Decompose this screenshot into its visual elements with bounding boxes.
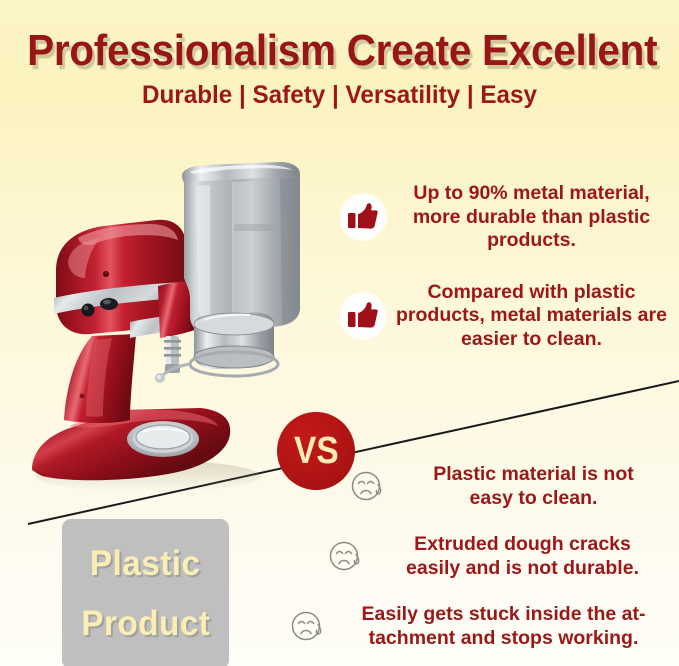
sad-face-icon xyxy=(324,536,366,576)
vs-badge: VS xyxy=(277,412,355,490)
product-comparison-infographic: Professionalism Create Excellent Durable… xyxy=(0,0,679,666)
thumbs-up-icon xyxy=(336,289,390,343)
plastic-product-label: Plastic Product xyxy=(62,519,229,666)
pro-item: Up to 90% metal material, more durable t… xyxy=(336,182,679,253)
con-item-line2: tachment and stops working. xyxy=(369,627,639,649)
con-item-text: Plastic material is not easy to clean. xyxy=(388,462,679,510)
cons-list: Plastic material is not easy to clean. E… xyxy=(286,462,679,666)
pro-item-text: Compared with plastic products, metal ma… xyxy=(390,281,679,352)
con-item-text: Easily gets stuck inside the at- tachmen… xyxy=(328,602,679,650)
con-item: Extruded dough cracks easily and is not … xyxy=(286,532,679,580)
page-subtitle: Durable | Safety | Versatility | Easy xyxy=(10,74,669,110)
con-item-text: Extruded dough cracks easily and is not … xyxy=(366,532,679,580)
header: Professionalism Create Excellent Durable… xyxy=(0,0,679,110)
sad-face-icon xyxy=(346,466,388,506)
con-item-line2: easily and is not durable. xyxy=(406,557,639,579)
plastic-product-line1: Plastic xyxy=(90,534,201,594)
con-item-line2: easy to clean. xyxy=(470,487,598,509)
sad-face-icon xyxy=(286,606,328,646)
pros-list: Up to 90% metal material, more durable t… xyxy=(336,182,679,379)
con-item-line1: Easily gets stuck inside the at- xyxy=(362,603,646,625)
con-item-line1: Plastic material is not xyxy=(433,463,634,485)
pro-item-text: Up to 90% metal material, more durable t… xyxy=(390,182,679,253)
vs-badge-label: VS xyxy=(294,432,339,470)
thumbs-up-icon xyxy=(336,190,390,244)
con-item: Easily gets stuck inside the at- tachmen… xyxy=(286,602,679,650)
page-title: Professionalism Create Excellent xyxy=(27,0,652,74)
pro-item: Compared with plastic products, metal ma… xyxy=(336,281,679,352)
con-item-line1: Extruded dough cracks xyxy=(414,533,631,555)
plastic-product-line2: Product xyxy=(81,594,210,654)
stand-mixer-image xyxy=(18,158,318,498)
